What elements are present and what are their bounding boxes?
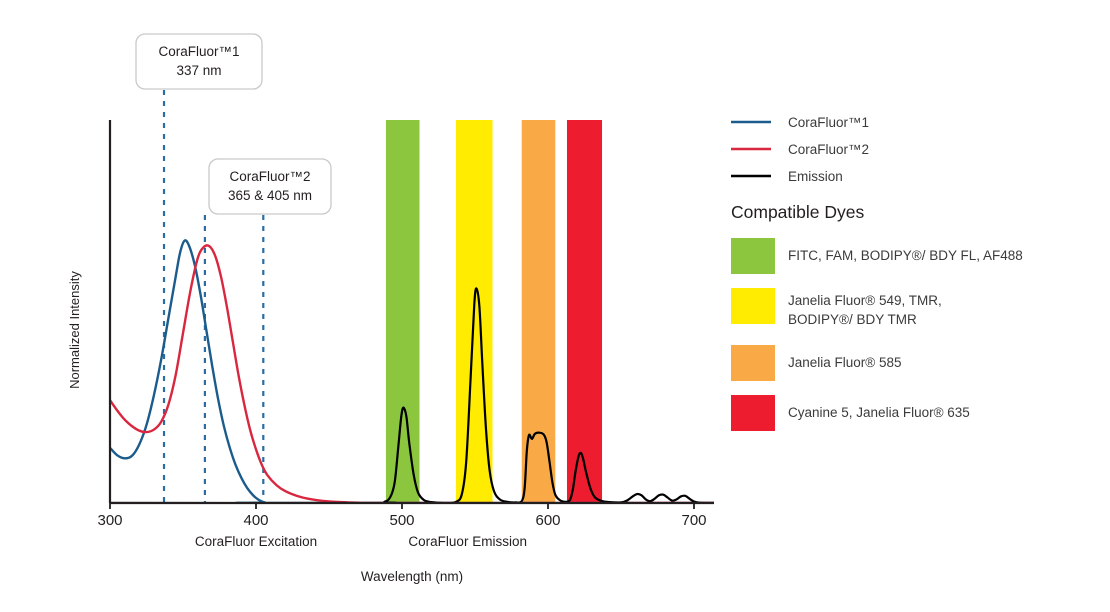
dye-swatch-2 bbox=[731, 345, 775, 381]
corafluor1-callout-box bbox=[136, 34, 262, 89]
corafluor1-callout-line2: 337 nm bbox=[176, 63, 221, 78]
corafluor1-callout: CoraFluor™1337 nm bbox=[136, 34, 262, 89]
legend-label-1: CoraFluor™2 bbox=[788, 142, 869, 157]
corafluor2-callout-line2: 365 & 405 nm bbox=[228, 188, 312, 203]
x-tick-label-400: 400 bbox=[243, 512, 268, 529]
spectra-figure: Normalized Intensity Wavelength (nm) 300… bbox=[0, 0, 1110, 612]
dye-swatch-1 bbox=[731, 288, 775, 324]
x-axis-title: Wavelength (nm) bbox=[361, 569, 463, 584]
green-band bbox=[386, 120, 420, 503]
y-axis-title: Normalized Intensity bbox=[67, 271, 82, 389]
dye-label-1-line2: BODIPY®/ BDY TMR bbox=[788, 312, 917, 327]
dye-swatch-0 bbox=[731, 238, 775, 274]
x-tick-label-700: 700 bbox=[681, 512, 706, 529]
legend-label-2: Emission bbox=[788, 169, 843, 184]
dye-label-2: Janelia Fluor® 585 bbox=[788, 355, 902, 370]
dye-swatch-3 bbox=[731, 395, 775, 431]
corafluor2-callout-box bbox=[209, 159, 331, 214]
x-tick-label-300: 300 bbox=[97, 512, 122, 529]
corafluor2-callout-line1: CoraFluor™2 bbox=[229, 169, 310, 184]
red-band bbox=[567, 120, 602, 503]
compatible-dyes-heading: Compatible Dyes bbox=[731, 202, 864, 222]
region-label-1: CoraFluor Emission bbox=[408, 534, 527, 549]
dye-label-1: Janelia Fluor® 549, TMR, bbox=[788, 293, 942, 308]
legend-label-0: CoraFluor™1 bbox=[788, 115, 869, 130]
corafluor1-callout-line1: CoraFluor™1 bbox=[158, 44, 239, 59]
dye-label-3: Cyanine 5, Janelia Fluor® 635 bbox=[788, 405, 970, 420]
x-tick-label-500: 500 bbox=[389, 512, 414, 529]
region-label-0: CoraFluor Excitation bbox=[195, 534, 317, 549]
dye-label-0: FITC, FAM, BODIPY®/ BDY FL, AF488 bbox=[788, 248, 1023, 263]
x-tick-label-600: 600 bbox=[535, 512, 560, 529]
corafluor2-callout: CoraFluor™2365 & 405 nm bbox=[209, 159, 331, 214]
